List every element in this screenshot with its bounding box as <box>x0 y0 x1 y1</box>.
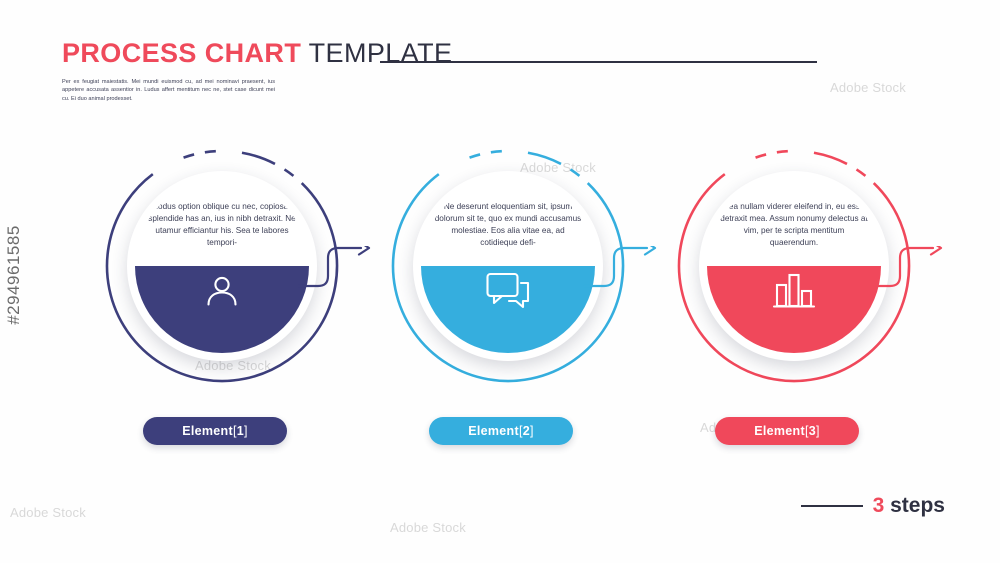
footer-steps-word: steps <box>884 494 945 517</box>
watermark-tile: Adobe Stock <box>390 520 466 535</box>
step-2-label-text: Element <box>468 424 519 438</box>
step-3-disc-inner: Sea nullam viderer eleifend in, eu esse … <box>707 179 881 353</box>
footer-steps-count: 3 <box>873 494 885 517</box>
step-2-body-text: Ne deserunt eloquentiam sit, ipsum dolor… <box>433 201 583 249</box>
step-2-number: 2 <box>523 424 530 438</box>
connector-arrow-1 <box>296 246 374 288</box>
step-3-bracket-close: ] <box>816 424 820 438</box>
step-2-bracket-close: ] <box>530 424 534 438</box>
step-2-disc-inner: Ne deserunt eloquentiam sit, ipsum dolor… <box>421 179 595 353</box>
step-2[interactable]: Ne deserunt eloquentiam sit, ipsum dolor… <box>382 140 634 450</box>
step-3[interactable]: Sea nullam viderer eleifend in, eu esse … <box>668 140 920 450</box>
step-3-label-pill[interactable]: Element [3] <box>715 417 859 445</box>
step-1-bracket-close: ] <box>244 424 248 438</box>
step-2-label-pill[interactable]: Element [2] <box>429 417 573 445</box>
step-3-label-text: Element <box>754 424 805 438</box>
canvas: #294961585 Adobe Stock Adobe Stock Adobe… <box>0 0 1000 563</box>
chat-bubbles-icon <box>421 271 595 316</box>
user-icon <box>135 271 309 318</box>
page-title: PROCESS CHART TEMPLATE <box>62 38 452 69</box>
step-1[interactable]: Modus option oblique cu nec, copiosae sp… <box>96 140 348 450</box>
connector-arrow-2 <box>582 246 660 288</box>
step-1-number: 1 <box>237 424 244 438</box>
page-title-light: TEMPLATE <box>301 38 452 68</box>
footer-steps-label: 3 steps <box>873 494 945 518</box>
watermark-tile: Adobe Stock <box>10 505 86 520</box>
bar-chart-icon <box>707 271 881 316</box>
header-paragraph: Per ex feugiat maiestatis. Mei mundi eui… <box>62 78 275 103</box>
step-1-body-text: Modus option oblique cu nec, copiosae sp… <box>147 201 297 249</box>
step-3-body-text: Sea nullam viderer eleifend in, eu esse … <box>719 201 869 249</box>
step-1-disc-inner: Modus option oblique cu nec, copiosae sp… <box>135 179 309 353</box>
page-header: PROCESS CHART TEMPLATE <box>62 38 762 72</box>
title-divider <box>380 61 817 63</box>
step-3-number: 3 <box>809 424 816 438</box>
connector-arrow-3 <box>868 246 946 288</box>
watermark-id: #294961585 <box>4 225 24 325</box>
step-1-label-pill[interactable]: Element [1] <box>143 417 287 445</box>
step-1-label-text: Element <box>182 424 233 438</box>
footer: 3 steps <box>801 494 945 518</box>
watermark-tile: Adobe Stock <box>830 80 906 95</box>
footer-divider <box>801 505 863 507</box>
page-title-bold: PROCESS CHART <box>62 38 301 68</box>
